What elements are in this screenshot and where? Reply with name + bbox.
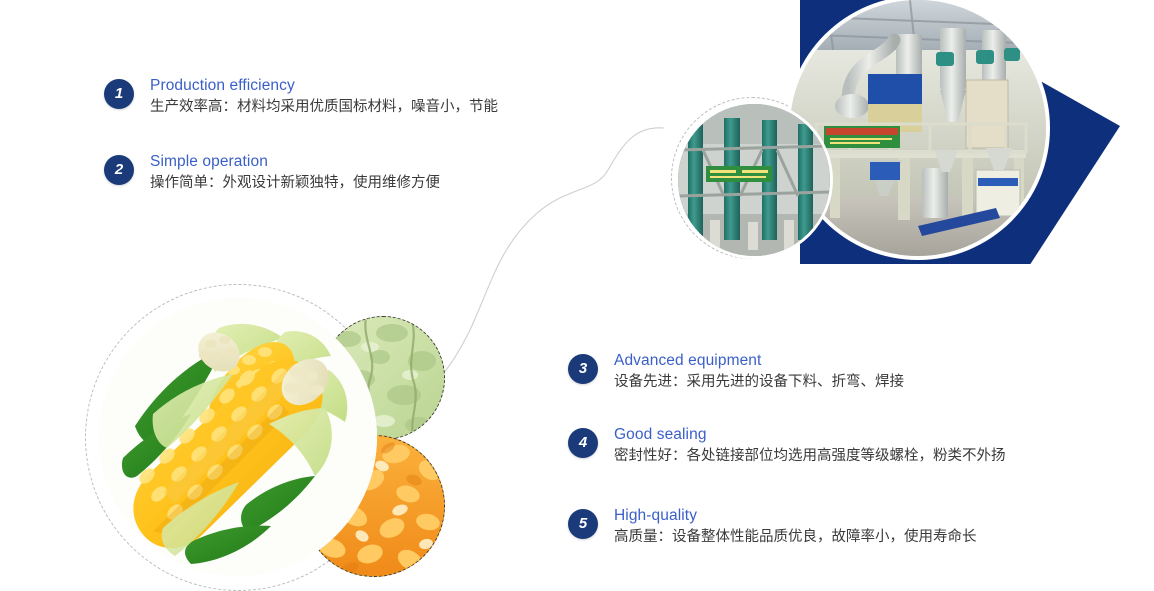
feature-desc-1: 生产效率高：材料均采用优质国标材料，噪音小，节能 bbox=[150, 97, 498, 118]
feature-desc-2: 操作简单：外观设计新颖独特，使用维修方便 bbox=[150, 173, 440, 194]
hexagon-photo-group bbox=[660, 0, 1154, 276]
feature-badge-4: 4 bbox=[568, 428, 598, 458]
feature-item-4[interactable]: 4 Good sealing 密封性好：各处链接部位均选用高强度等级螺栓，粉类不… bbox=[568, 428, 1006, 467]
feature-text-1: Production efficiency 生产效率高：材料均采用优质国标材料，… bbox=[150, 75, 498, 118]
flour-milling-plant-photo[interactable] bbox=[790, 0, 1046, 256]
feature-item-5[interactable]: 5 High-quality 高质量：设备整体性能品质优良，故障率小，使用寿命长 bbox=[568, 509, 977, 548]
feature-title-5: High-quality bbox=[614, 505, 977, 526]
feature-text-4: Good sealing 密封性好：各处链接部位均选用高强度等级螺栓，粉类不外扬 bbox=[614, 424, 1006, 467]
flour-milling-plant-photo-art bbox=[790, 0, 1046, 256]
feature-title-4: Good sealing bbox=[614, 424, 1006, 445]
feature-text-2: Simple operation 操作简单：外观设计新颖独特，使用维修方便 bbox=[150, 151, 440, 194]
feature-title-2: Simple operation bbox=[150, 151, 440, 172]
feature-text-5: High-quality 高质量：设备整体性能品质优良，故障率小，使用寿命长 bbox=[614, 505, 977, 548]
fresh-corn-cobs-photo-art bbox=[99, 298, 377, 576]
fresh-corn-cobs-photo[interactable] bbox=[99, 298, 377, 576]
green-milling-machine-photo[interactable] bbox=[678, 104, 830, 256]
feature-desc-5: 高质量：设备整体性能品质优良，故障率小，使用寿命长 bbox=[614, 527, 977, 548]
feature-item-2[interactable]: 2 Simple operation 操作简单：外观设计新颖独特，使用维修方便 bbox=[104, 155, 440, 194]
feature-desc-3: 设备先进：采用先进的设备下料、折弯、焊接 bbox=[614, 372, 904, 393]
feature-text-3: Advanced equipment 设备先进：采用先进的设备下料、折弯、焊接 bbox=[614, 350, 904, 393]
feature-infographic: 1 Production efficiency 生产效率高：材料均采用优质国标材… bbox=[0, 0, 1154, 591]
green-milling-machine-photo-art bbox=[678, 104, 830, 256]
feature-item-1[interactable]: 1 Production efficiency 生产效率高：材料均采用优质国标材… bbox=[104, 79, 498, 118]
feature-item-3[interactable]: 3 Advanced equipment 设备先进：采用先进的设备下料、折弯、焊… bbox=[568, 354, 904, 393]
feature-badge-1: 1 bbox=[104, 79, 134, 109]
feature-title-3: Advanced equipment bbox=[614, 350, 904, 371]
corn-photo-group bbox=[85, 280, 505, 591]
feature-title-1: Production efficiency bbox=[150, 75, 498, 96]
feature-desc-4: 密封性好：各处链接部位均选用高强度等级螺栓，粉类不外扬 bbox=[614, 446, 1006, 467]
feature-badge-3: 3 bbox=[568, 354, 598, 384]
feature-badge-2: 2 bbox=[104, 155, 134, 185]
feature-badge-5: 5 bbox=[568, 509, 598, 539]
